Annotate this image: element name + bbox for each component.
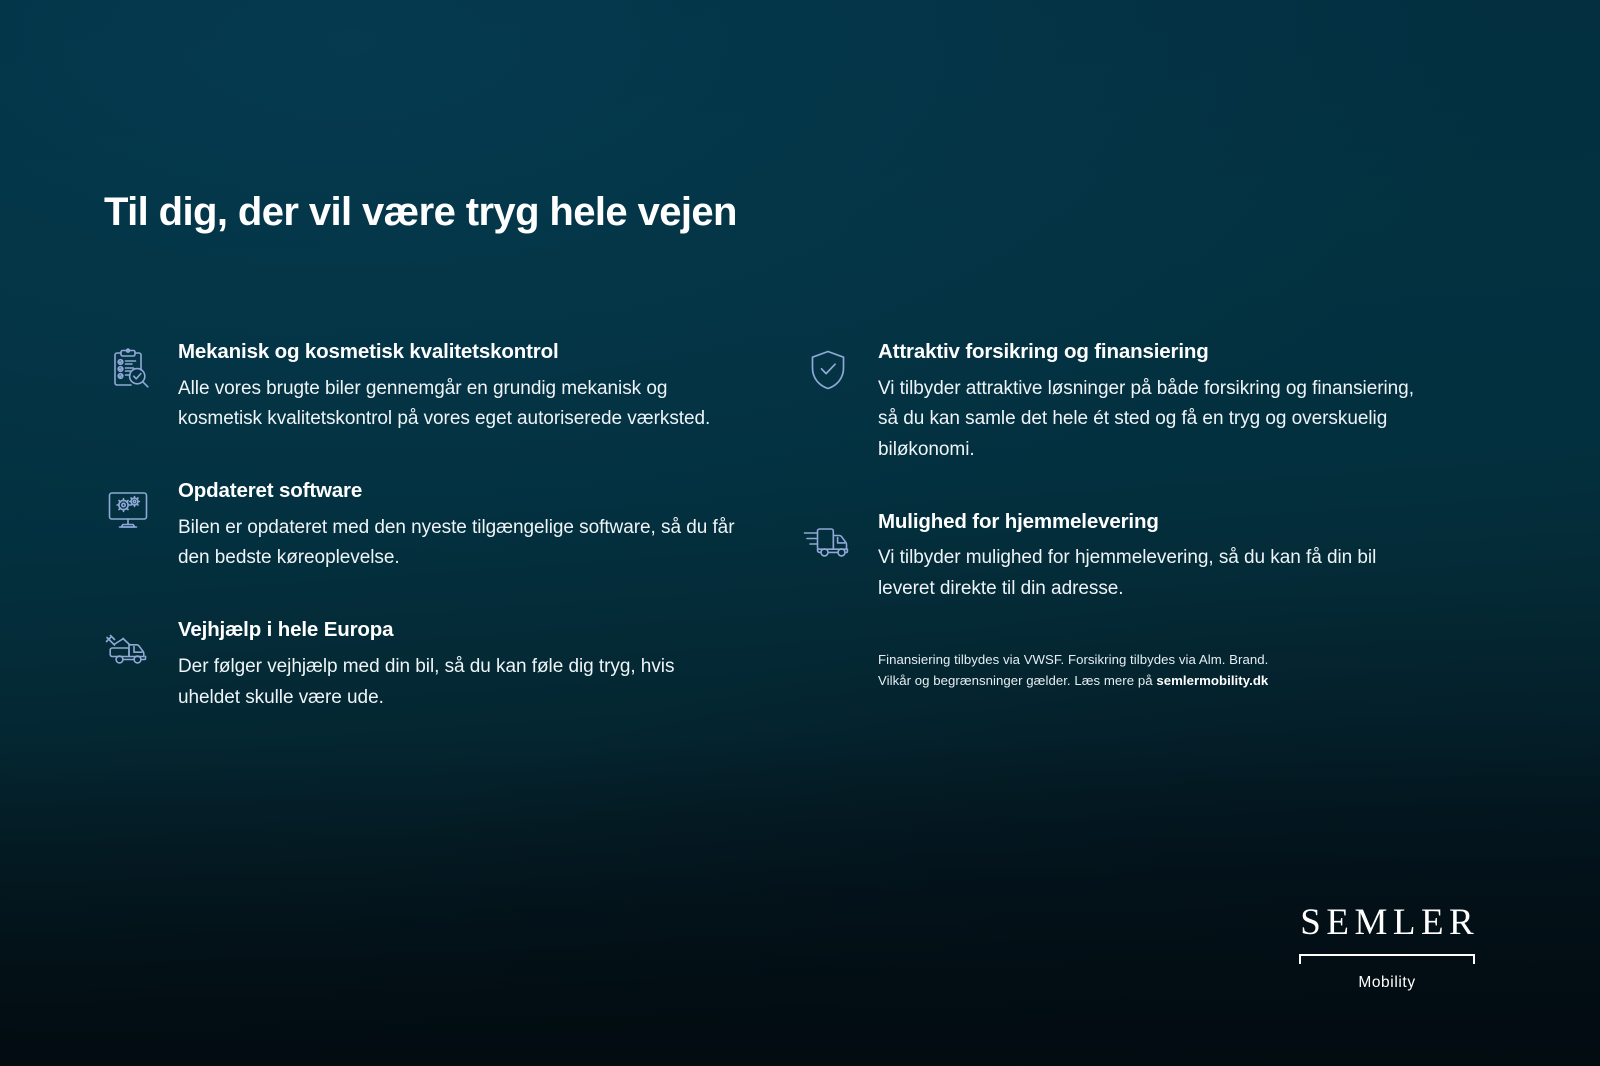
logo-wordmark: SEMLER bbox=[1292, 904, 1482, 941]
feature-item: Attraktiv forsikring og finansiering Vi … bbox=[800, 340, 1500, 466]
feature-text: Bilen er opdateret med den nyeste tilgæn… bbox=[178, 513, 738, 575]
feature-text: Alle vores brugte biler gennemgår en gru… bbox=[178, 374, 738, 436]
shield-check-icon bbox=[800, 344, 856, 396]
legal-disclaimer: Finansiering tilbydes via VWSF. Forsikri… bbox=[878, 649, 1398, 692]
legal-line-2-prefix: Vilkår og begrænsninger gælder. Læs mere… bbox=[878, 673, 1156, 688]
feature-column-left: Mekanisk og kosmetisk kvalitetskontrol A… bbox=[100, 340, 800, 713]
page-title: Til dig, der vil være tryg hele vejen bbox=[104, 190, 737, 236]
feature-item: Mekanisk og kosmetisk kvalitetskontrol A… bbox=[100, 340, 800, 435]
feature-text: Der følger vejhjælp med din bil, så du k… bbox=[178, 652, 738, 714]
feature-body: Mekanisk og kosmetisk kvalitetskontrol A… bbox=[178, 340, 738, 435]
legal-line-2: Vilkår og begrænsninger gælder. Læs mere… bbox=[878, 670, 1398, 691]
logo-subtitle: Mobility bbox=[1292, 975, 1482, 991]
feature-title: Vejhjælp i hele Europa bbox=[178, 618, 738, 643]
feature-columns: Mekanisk og kosmetisk kvalitetskontrol A… bbox=[100, 340, 1500, 713]
feature-item: Vejhjælp i hele Europa Der følger vejhjæ… bbox=[100, 618, 800, 713]
legal-website-link[interactable]: semlermobility.dk bbox=[1156, 673, 1268, 688]
tow-truck-icon bbox=[100, 622, 156, 674]
feature-title: Opdateret software bbox=[178, 479, 738, 504]
logo-divider-tick-right bbox=[1473, 954, 1475, 964]
feature-title: Attraktiv forsikring og finansiering bbox=[878, 340, 1438, 365]
delivery-truck-icon bbox=[800, 514, 856, 566]
slide-content: Til dig, der vil være tryg hele vejen bbox=[0, 0, 1600, 1066]
feature-text: Vi tilbyder mulighed for hjemmelevering,… bbox=[878, 543, 1438, 605]
feature-body: Opdateret software Bilen er opdateret me… bbox=[178, 479, 738, 574]
logo-divider bbox=[1299, 954, 1475, 966]
feature-title: Mekanisk og kosmetisk kvalitetskontrol bbox=[178, 340, 738, 365]
feature-body: Attraktiv forsikring og finansiering Vi … bbox=[878, 340, 1438, 466]
feature-column-right: Attraktiv forsikring og finansiering Vi … bbox=[800, 340, 1500, 713]
feature-item: Mulighed for hjemmelevering Vi tilbyder … bbox=[800, 510, 1500, 605]
feature-item: Opdateret software Bilen er opdateret me… bbox=[100, 479, 800, 574]
legal-line-1: Finansiering tilbydes via VWSF. Forsikri… bbox=[878, 649, 1398, 670]
monitor-gears-icon bbox=[100, 483, 156, 535]
clipboard-check-magnifier-icon bbox=[100, 344, 156, 396]
feature-body: Vejhjælp i hele Europa Der følger vejhjæ… bbox=[178, 618, 738, 713]
feature-text: Vi tilbyder attraktive løsninger på både… bbox=[878, 374, 1438, 466]
semler-mobility-logo: SEMLER Mobility bbox=[1292, 904, 1482, 991]
logo-divider-bar bbox=[1299, 954, 1475, 956]
feature-title: Mulighed for hjemmelevering bbox=[878, 510, 1438, 535]
logo-divider-tick-left bbox=[1299, 954, 1301, 964]
feature-body: Mulighed for hjemmelevering Vi tilbyder … bbox=[878, 510, 1438, 605]
